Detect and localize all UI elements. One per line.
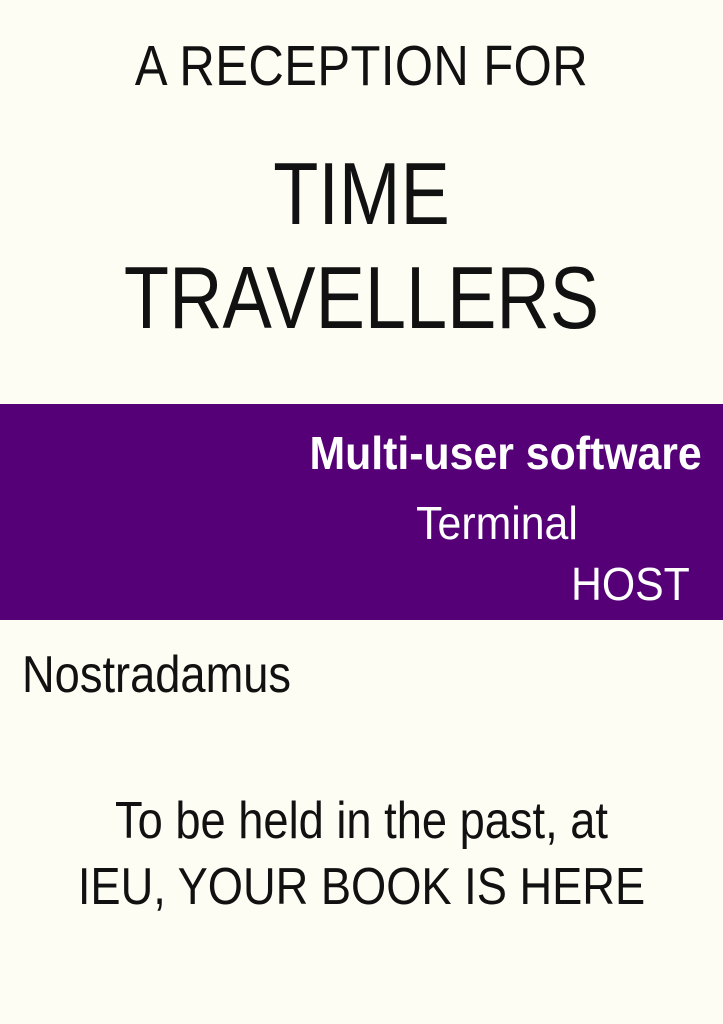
- poster-title-line-1: TIME: [58, 142, 665, 246]
- host-name: Nostradamus: [22, 645, 291, 705]
- purple-banner: Multi-user software Terminal HOST: [0, 404, 723, 620]
- banner-line-multi-user-software: Multi-user software: [310, 426, 702, 480]
- poster-title: TIME TRAVELLERS: [0, 142, 723, 350]
- event-details-line-1: To be held in the past, at: [47, 788, 676, 854]
- event-details: To be held in the past, at IEU, YOUR BOO…: [0, 788, 723, 920]
- banner-line-terminal: Terminal: [416, 496, 578, 550]
- poster-kicker: A RECEPTION FOR: [51, 38, 673, 95]
- poster-title-line-2: TRAVELLERS: [58, 246, 665, 350]
- banner-line-host: HOST: [571, 557, 690, 611]
- poster-canvas: A RECEPTION FOR TIME TRAVELLERS Multi-us…: [0, 0, 723, 1024]
- event-details-line-2: IEU, YOUR BOOK IS HERE: [47, 854, 676, 920]
